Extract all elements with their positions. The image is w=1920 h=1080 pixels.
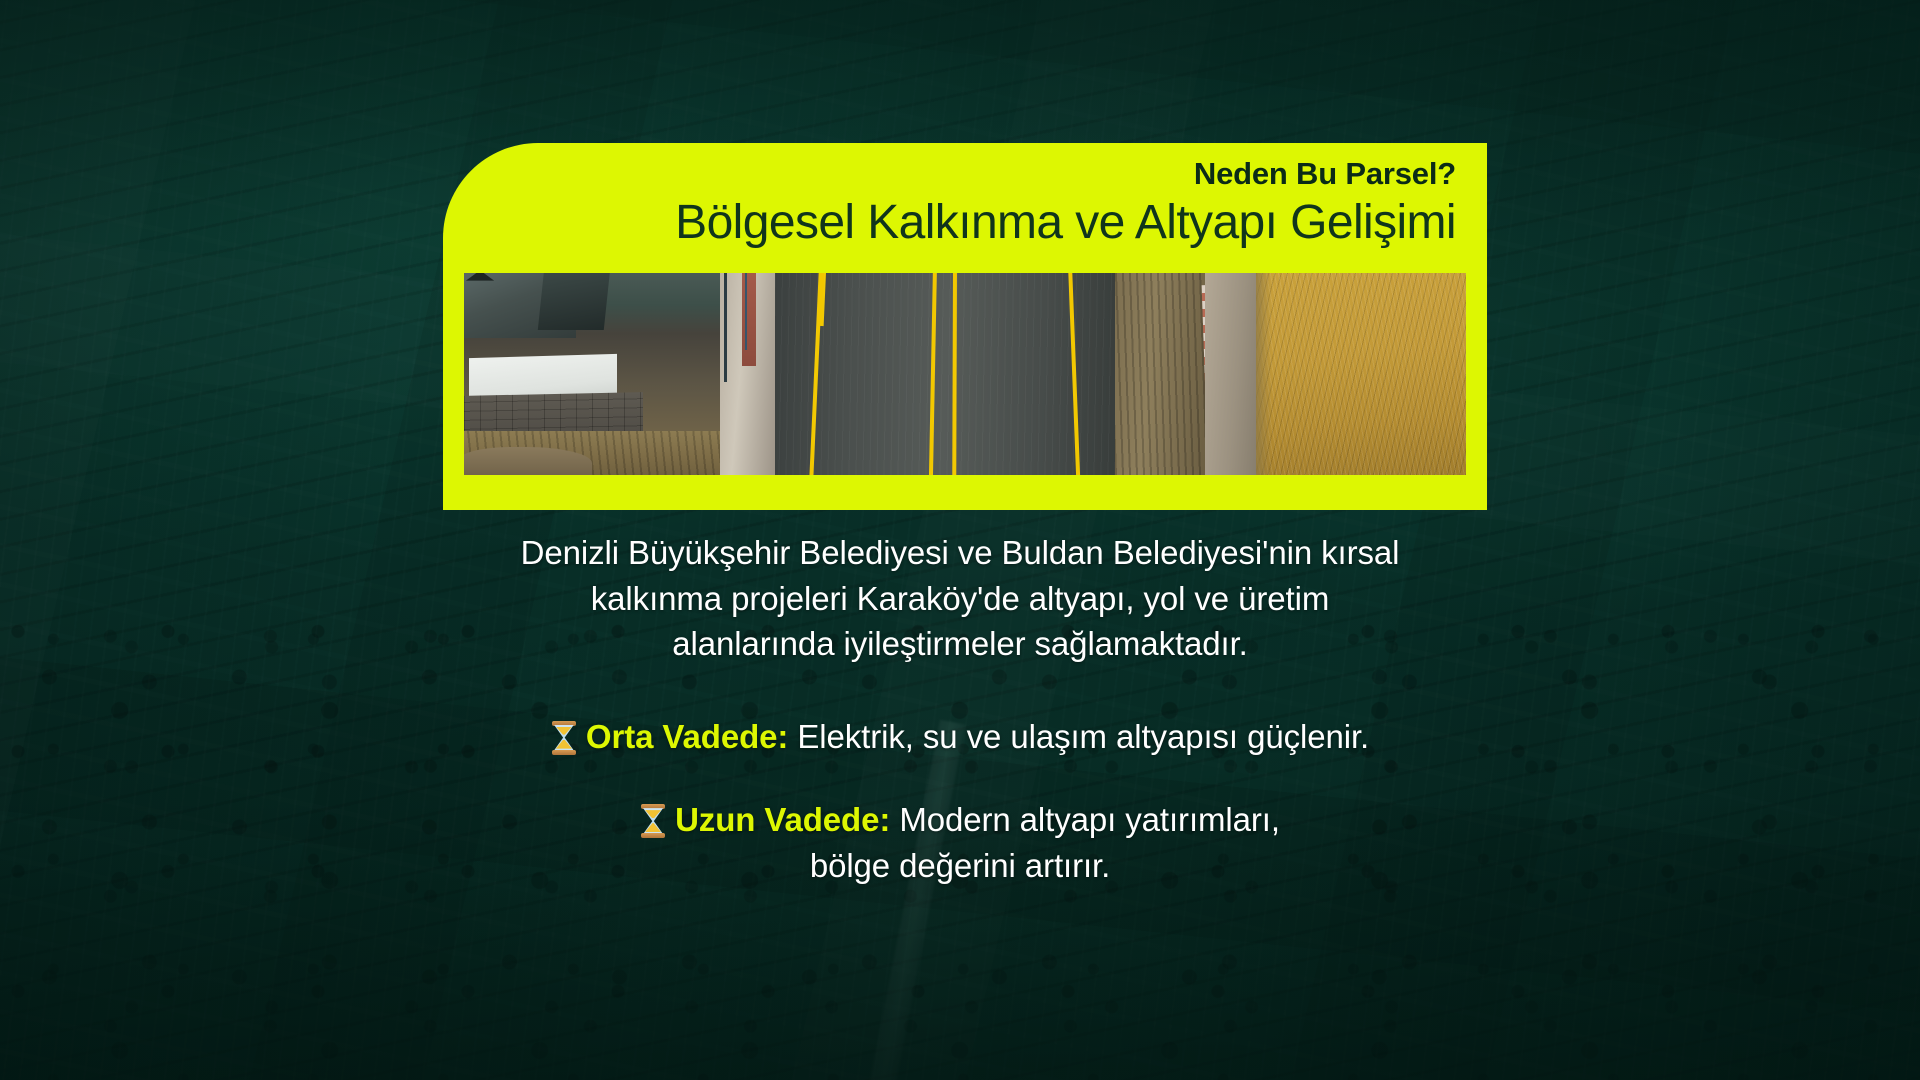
lede-paragraph: Denizli Büyükşehir Belediyesi ve Buldan … bbox=[0, 530, 1920, 667]
bullet-text-uzun-vadede-1: Modern altyapı yatırımları, bbox=[899, 801, 1280, 838]
photo-excavation-berm bbox=[1115, 273, 1205, 475]
photo-center-line-b bbox=[953, 273, 958, 475]
photo-gravel-shoulder bbox=[1205, 273, 1255, 475]
card-header: Neden Bu Parsel? Bölgesel Kalkınma ve Al… bbox=[443, 143, 1456, 250]
bullet-text-uzun-vadede-2: bölge değerini artırır. bbox=[0, 843, 1920, 889]
road-photo bbox=[464, 273, 1466, 475]
body-content: Denizli Büyükşehir Belediyesi ve Buldan … bbox=[0, 530, 1920, 888]
photo-house-roof bbox=[466, 273, 494, 281]
bullet-list: Orta Vadede: Elektrik, su ve ulaşım alty… bbox=[0, 714, 1920, 889]
photo-dark-roof bbox=[537, 273, 610, 330]
photo-road-edge-line-left bbox=[809, 273, 823, 475]
photo-field-edge bbox=[1256, 273, 1273, 475]
photo-wheat-field bbox=[1256, 273, 1466, 475]
bullet-text-orta-vadede: Elektrik, su ve ulaşım altyapısı güçleni… bbox=[797, 718, 1369, 755]
lede-line-1: Denizli Büyükşehir Belediyesi ve Buldan … bbox=[0, 530, 1920, 576]
lede-line-3: alanlarında iyileştirmeler sağlamaktadır… bbox=[0, 621, 1920, 667]
bullet-label-orta-vadede: Orta Vadede: bbox=[586, 718, 788, 755]
photo-road-dashed-line bbox=[819, 273, 825, 326]
photo-red-paving bbox=[742, 273, 756, 366]
photo-asphalt-road bbox=[775, 273, 1116, 475]
photo-left-compound bbox=[464, 273, 720, 475]
photo-blue-post bbox=[745, 273, 747, 350]
photo-utility-pole bbox=[724, 273, 727, 382]
bullet-label-uzun-vadede: Uzun Vadede: bbox=[675, 801, 890, 838]
highlight-card: Neden Bu Parsel? Bölgesel Kalkınma ve Al… bbox=[443, 143, 1487, 510]
photo-kerb-strip bbox=[720, 273, 775, 475]
photo-center-line-a bbox=[929, 273, 937, 475]
bullet-orta-vadede: Orta Vadede: Elektrik, su ve ulaşım alty… bbox=[0, 714, 1920, 760]
slide-canvas: Neden Bu Parsel? Bölgesel Kalkınma ve Al… bbox=[0, 0, 1920, 1080]
bullet-uzun-vadede-line-1: Uzun Vadede: Modern altyapı yatırımları, bbox=[0, 797, 1920, 843]
photo-dirt-mound bbox=[464, 447, 592, 475]
card-headline: Bölgesel Kalkınma ve Altyapı Gelişimi bbox=[443, 195, 1456, 251]
hourglass-icon bbox=[551, 721, 577, 755]
card-eyebrow: Neden Bu Parsel? bbox=[443, 156, 1456, 193]
bullet-uzun-vadede: Uzun Vadede: Modern altyapı yatırımları,… bbox=[0, 797, 1920, 888]
lede-line-2: kalkınma projeleri Karaköy'de altyapı, y… bbox=[0, 576, 1920, 622]
photo-road-edge-line-right bbox=[1068, 273, 1081, 475]
hourglass-icon bbox=[640, 804, 666, 838]
